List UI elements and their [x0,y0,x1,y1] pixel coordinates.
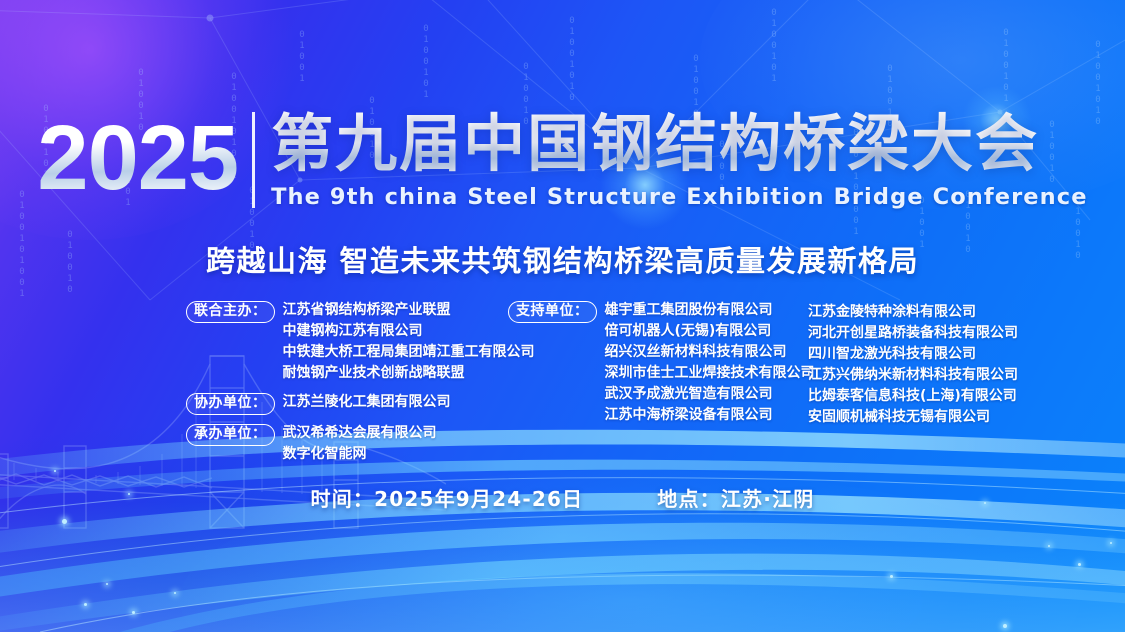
conference-title-cn: 第九届中国钢结构桥梁大会 [271,108,1088,180]
supporter-name: 河北开创星路桥装备科技有限公司 [808,323,1026,344]
event-date: 时间：2025年9月24-26日 [311,483,584,512]
organizer-block-co-organizer: 协办单位： 江苏兰陵化工集团有限公司 [186,392,508,415]
supporter-name: 安固顺机械科技无锡有限公司 [808,407,1026,428]
organizer-names-co-host: 江苏省钢结构桥梁产业联盟 中建钢构江苏有限公司 中铁建大桥工程局集团靖江重工有限… [283,300,535,384]
label-host: 承办单位： [186,424,275,446]
supporter-name: 江苏兴佛纳米新材料科技有限公司 [808,365,1026,386]
organizers-right-column: 江苏金陵特种涂料有限公司 河北开创星路桥装备科技有限公司 四川智龙激光科技有限公… [808,300,1026,428]
organizer-names-host: 武汉希希达会展有限公司 数字化智能网 [283,423,437,465]
organizer-block-co-host: 联合主办： 江苏省钢结构桥梁产业联盟 中建钢构江苏有限公司 中铁建大桥工程局集团… [186,300,508,384]
title-column: 第九届中国钢结构桥梁大会 The 9th china Steel Structu… [271,108,1088,212]
conference-slogan: 跨越山海 智造未来共筑钢结构桥梁高质量发展新格局 [0,238,1125,280]
supporter-name: 绍兴汉丝新材料科技有限公司 [605,342,815,363]
organizer-name: 武汉希希达会展有限公司 [283,423,437,444]
conference-banner: 0100101001 01001010 010010 0100101 01001… [0,0,1125,632]
organizer-name: 数字化智能网 [283,444,437,465]
organizer-name: 江苏省钢结构桥梁产业联盟 [283,300,535,321]
label-co-host: 联合主办： [186,301,275,323]
label-co-organizer: 协办单位： [186,393,275,415]
organizers-middle-column: 支持单位： 雄宇重工集团股份有限公司 倍可机器人(无锡)有限公司 绍兴汉丝新材料… [508,300,808,426]
supporter-name: 四川智龙激光科技有限公司 [808,344,1026,365]
organizer-names-co-organizer: 江苏兰陵化工集团有限公司 [283,392,451,413]
organizer-block-host: 承办单位： 武汉希希达会展有限公司 数字化智能网 [186,423,508,465]
event-footer: 时间：2025年9月24-26日 地点：江苏·江阴 [0,483,1125,512]
supporter-names: 雄宇重工集团股份有限公司 倍可机器人(无锡)有限公司 绍兴汉丝新材料科技有限公司… [605,300,815,426]
banner-content: 2025 第九届中国钢结构桥梁大会 The 9th china Steel St… [0,0,1125,632]
supporter-name: 江苏中海桥梁设备有限公司 [605,405,815,426]
supporter-name: 比姆泰客信息科技(上海)有限公司 [808,386,1026,407]
organizer-name: 中建钢构江苏有限公司 [283,321,535,342]
title-row: 2025 第九届中国钢结构桥梁大会 The 9th china Steel St… [0,108,1125,212]
organizers-section: 联合主办： 江苏省钢结构桥梁产业联盟 中建钢构江苏有限公司 中铁建大桥工程局集团… [186,300,1026,465]
organizer-name: 中铁建大桥工程局集团靖江重工有限公司 [283,342,535,363]
organizer-name: 耐蚀钢产业技术创新战略联盟 [283,363,535,384]
organizer-name: 江苏兰陵化工集团有限公司 [283,392,451,413]
supporter-name: 雄宇重工集团股份有限公司 [605,300,815,321]
organizer-block-supporters: 支持单位： 雄宇重工集团股份有限公司 倍可机器人(无锡)有限公司 绍兴汉丝新材料… [508,300,808,426]
supporter-name: 倍可机器人(无锡)有限公司 [605,321,815,342]
conference-title-en: The 9th china Steel Structure Exhibition… [271,182,1088,212]
event-location: 地点：江苏·江阴 [657,483,814,512]
organizers-left-column: 联合主办： 江苏省钢结构桥梁产业联盟 中建钢构江苏有限公司 中铁建大桥工程局集团… [186,300,508,465]
title-divider [252,112,255,208]
year-2025: 2025 [37,110,252,206]
supporter-name: 深圳市佳士工业焊接技术有限公司 [605,363,815,384]
supporter-name: 武汉予成激光智造有限公司 [605,384,815,405]
label-supporting-units: 支持单位： [508,301,597,323]
supporter-name: 江苏金陵特种涂料有限公司 [808,302,1026,323]
